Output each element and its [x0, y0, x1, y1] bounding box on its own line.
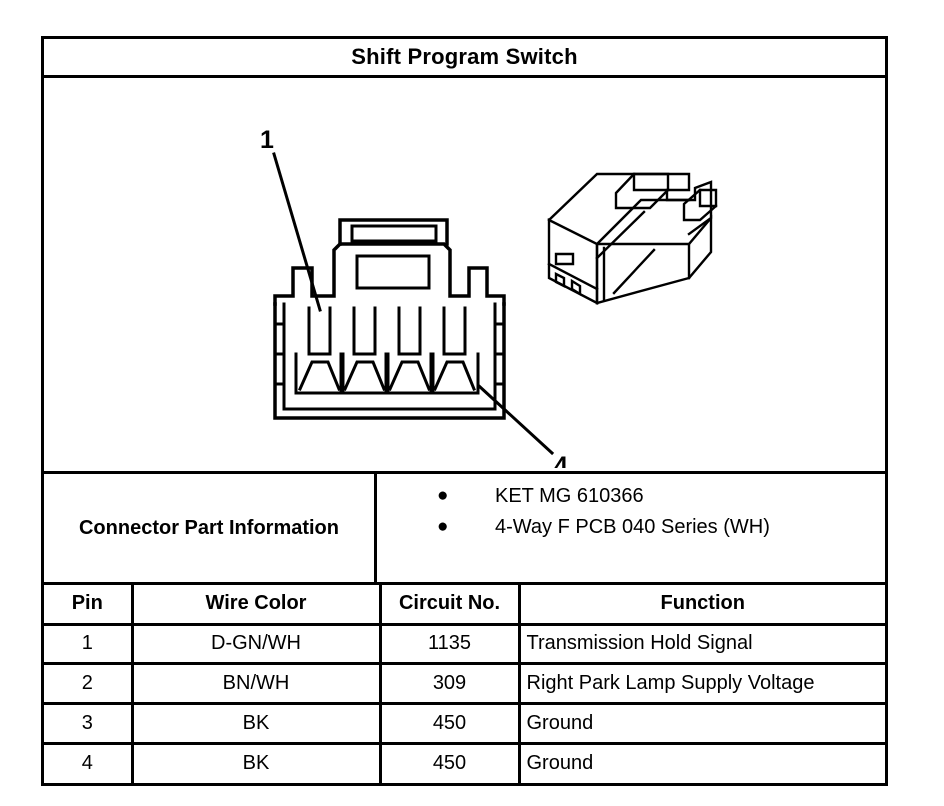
bullet-icon: ●	[437, 484, 495, 508]
column-header-wire-color: Wire Color	[132, 585, 380, 624]
cell-function: Ground	[519, 743, 885, 783]
connector-part-number: KET MG 610366	[495, 484, 644, 509]
leader-line-1	[274, 154, 320, 310]
table-row: 2 BN/WH 309 Right Park Lamp Supply Volta…	[44, 664, 885, 704]
callout-label-1: 1	[260, 126, 274, 154]
cell-function: Transmission Hold Signal	[519, 624, 885, 664]
connector-info-frame: Shift Program Switch	[41, 36, 888, 786]
bullet-icon: ●	[437, 515, 495, 539]
cavity-4	[431, 308, 478, 393]
column-header-function: Function	[519, 585, 885, 624]
cavity-3	[386, 308, 433, 393]
pin-table-container: Pin Wire Color Circuit No. Function 1 D-…	[44, 585, 885, 783]
cavity-2	[341, 308, 388, 393]
connector-part-information-list: ● KET MG 610366 ● 4-Way F PCB 040 Series…	[377, 474, 885, 582]
table-row: 4 BK 450 Ground	[44, 743, 885, 783]
table-header-row: Pin Wire Color Circuit No. Function	[44, 585, 885, 624]
cell-pin: 3	[44, 704, 132, 744]
connector-diagram: 1 4	[44, 78, 885, 468]
page-title: Shift Program Switch	[351, 46, 577, 68]
cell-wire-color: BK	[132, 704, 380, 744]
list-item: ● KET MG 610366	[437, 484, 885, 509]
cell-wire-color: BN/WH	[132, 664, 380, 704]
connector-face-view-sheet: Shift Program Switch	[0, 0, 944, 806]
cell-wire-color: D-GN/WH	[132, 624, 380, 664]
table-row: 3 BK 450 Ground	[44, 704, 885, 744]
cell-circuit-no: 450	[380, 704, 519, 744]
cell-pin: 2	[44, 664, 132, 704]
connector-part-information-row: Connector Part Information ● KET MG 6103…	[44, 474, 885, 585]
cell-circuit-no: 309	[380, 664, 519, 704]
column-header-pin: Pin	[44, 585, 132, 624]
cell-pin: 4	[44, 743, 132, 783]
connector-front-view	[275, 220, 504, 418]
connector-isometric-view	[549, 174, 716, 468]
pin-table: Pin Wire Color Circuit No. Function 1 D-…	[44, 585, 885, 783]
list-item: ● 4-Way F PCB 040 Series (WH)	[437, 515, 885, 540]
cell-function: Right Park Lamp Supply Voltage	[519, 664, 885, 704]
cavity-1	[296, 308, 343, 393]
diagram-row: 1 4	[44, 78, 885, 474]
column-header-circuit-no: Circuit No.	[380, 585, 519, 624]
connector-description: 4-Way F PCB 040 Series (WH)	[495, 515, 770, 540]
title-row: Shift Program Switch	[44, 39, 885, 78]
cell-circuit-no: 450	[380, 743, 519, 783]
cell-wire-color: BK	[132, 743, 380, 783]
cell-circuit-no: 1135	[380, 624, 519, 664]
connector-part-information-label-cell: Connector Part Information	[44, 474, 377, 582]
cell-pin: 1	[44, 624, 132, 664]
cell-function: Ground	[519, 704, 885, 744]
callout-label-4: 4	[554, 452, 568, 468]
connector-part-information-label: Connector Part Information	[79, 517, 339, 539]
table-row: 1 D-GN/WH 1135 Transmission Hold Signal	[44, 624, 885, 664]
